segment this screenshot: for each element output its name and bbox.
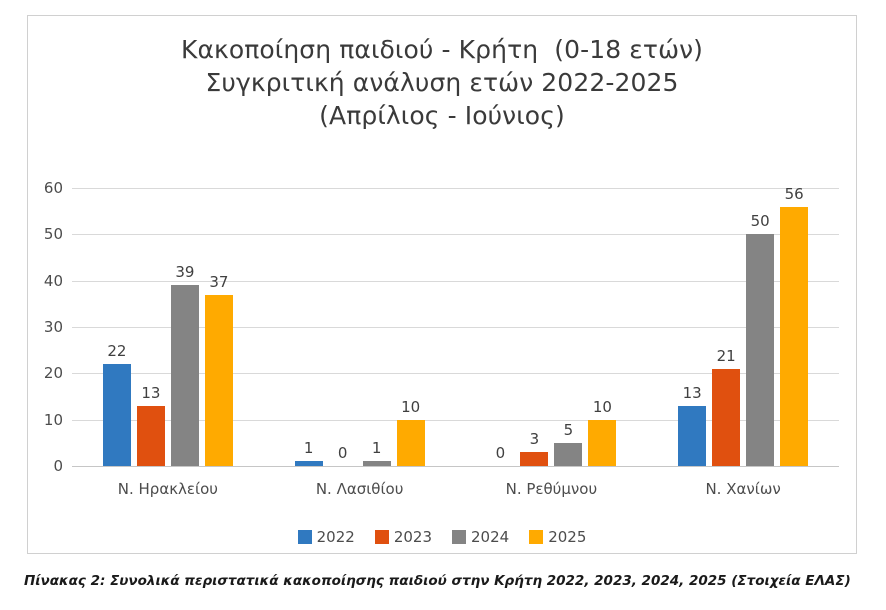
bar[interactable] [137,406,165,466]
bar[interactable] [171,285,199,466]
legend-swatch-icon [298,530,312,544]
bar-slot: 0 [486,188,514,466]
y-axis-tick: 20 [44,364,63,382]
bar-value-label: 1 [372,439,382,457]
bar-value-label: 3 [530,430,540,448]
chart-frame: Κακοποίηση παιδιού - Κρήτη (0-18 ετών) Σ… [27,15,857,554]
bar-value-label: 13 [141,384,160,402]
bar-slot: 13 [678,188,706,466]
legend-swatch-icon [375,530,389,544]
bar-slot: 1 [295,188,323,466]
bar-value-label: 0 [338,444,348,462]
bar[interactable] [103,364,131,466]
bar-slot: 37 [205,188,233,466]
legend-label: 2024 [471,528,509,546]
bar-slot: 0 [329,188,357,466]
bar-group: 13215056 [647,188,839,466]
bar-slot: 3 [520,188,548,466]
bar-value-label: 10 [593,398,612,416]
y-axis-tick: 0 [53,457,63,475]
bar[interactable] [363,461,391,466]
legend-item[interactable]: 2022 [298,528,355,546]
bar[interactable] [678,406,706,466]
bar-slot: 5 [554,188,582,466]
bars-layer: 22133937101100351013215056 [72,188,839,466]
legend-label: 2023 [394,528,432,546]
bar-value-label: 0 [496,444,506,462]
bar-value-label: 10 [401,398,420,416]
bar-slot: 56 [780,188,808,466]
chart-title-line-2: Συγκριτική ανάλυση ετών 2022-2025 [28,66,856,99]
bar-slot: 10 [588,188,616,466]
bar-value-label: 22 [107,342,126,360]
legend-label: 2025 [548,528,586,546]
bar-slot: 13 [137,188,165,466]
legend-swatch-icon [529,530,543,544]
x-axis-category-label: Ν. Λασιθίου [264,480,456,498]
plot-area: 0102030405060 22133937101100351013215056… [72,188,839,481]
figure-caption: Πίνακας 2: Συνολικά περιστατικά κακοποίη… [24,573,864,589]
y-axis-tick: 50 [44,225,63,243]
bar-group: 03510 [456,188,648,466]
bar[interactable] [588,420,616,466]
bar[interactable] [780,207,808,466]
x-axis-category-label: Ν. Ρεθύμνου [456,480,648,498]
bar-slot: 10 [397,188,425,466]
bar-value-label: 56 [785,185,804,203]
bar-slot: 21 [712,188,740,466]
chart-title-line-3: (Απρίλιος - Ιούνιος) [28,99,856,132]
y-axis-tick: 30 [44,318,63,336]
bar-value-label: 5 [564,421,574,439]
bar[interactable] [746,234,774,466]
axis-baseline [72,466,839,467]
y-axis-tick: 10 [44,411,63,429]
bar-group: 22133937 [72,188,264,466]
bar[interactable] [712,369,740,466]
chart-title: Κακοποίηση παιδιού - Κρήτη (0-18 ετών) Σ… [28,33,856,132]
bar-slot: 1 [363,188,391,466]
bar-value-label: 50 [751,212,770,230]
legend-item[interactable]: 2023 [375,528,432,546]
bar-slot: 22 [103,188,131,466]
bar-slot: 39 [171,188,199,466]
bar[interactable] [520,452,548,466]
bar[interactable] [295,461,323,466]
chart-title-line-1: Κακοποίηση παιδιού - Κρήτη (0-18 ετών) [28,33,856,66]
legend-label: 2022 [317,528,355,546]
legend-item[interactable]: 2025 [529,528,586,546]
bar-value-label: 37 [209,273,228,291]
x-axis-category-label: Ν. Χανίων [647,480,839,498]
y-axis-tick: 60 [44,179,63,197]
bar-value-label: 21 [717,347,736,365]
bar-value-label: 39 [175,263,194,281]
y-axis-tick: 40 [44,272,63,290]
bar-slot: 50 [746,188,774,466]
legend-swatch-icon [452,530,466,544]
x-axis-category-label: Ν. Ηρακλείου [72,480,264,498]
bar[interactable] [554,443,582,466]
bar-group: 10110 [264,188,456,466]
bar[interactable] [205,295,233,466]
bar-value-label: 13 [683,384,702,402]
bar[interactable] [397,420,425,466]
chart-legend: 2022202320242025 [28,528,856,546]
legend-item[interactable]: 2024 [452,528,509,546]
bar-value-label: 1 [304,439,314,457]
